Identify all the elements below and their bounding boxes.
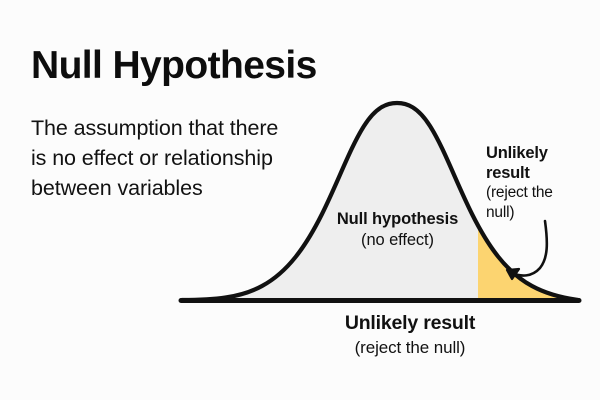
bottom-caption-sub: (reject the null): [260, 336, 560, 359]
tail-callout-line1: Unlikely: [486, 143, 594, 163]
tail-callout-line3: (reject the: [486, 183, 594, 203]
null-hypothesis-label-line2: (no effect): [306, 230, 489, 251]
infographic-canvas: Null Hypothesis The assumption that ther…: [0, 0, 600, 400]
null-hypothesis-label-line1: Null hypothesis: [306, 209, 489, 230]
null-hypothesis-label: Null hypothesis (no effect): [306, 209, 489, 251]
title-block: Null Hypothesis: [31, 44, 331, 88]
page-title: Null Hypothesis: [31, 44, 331, 88]
tail-callout-line2: result: [486, 163, 594, 183]
bottom-caption: Unlikely result (reject the null): [260, 311, 560, 359]
tail-callout-label: Unlikely result (reject the null): [486, 143, 594, 223]
callout-arrowhead: [507, 269, 519, 279]
callout-arrow: [512, 221, 547, 276]
tail-callout-line4: null): [486, 203, 594, 223]
page-subtitle: The assumption that there is no effect o…: [31, 113, 293, 203]
bottom-caption-main: Unlikely result: [260, 311, 560, 336]
